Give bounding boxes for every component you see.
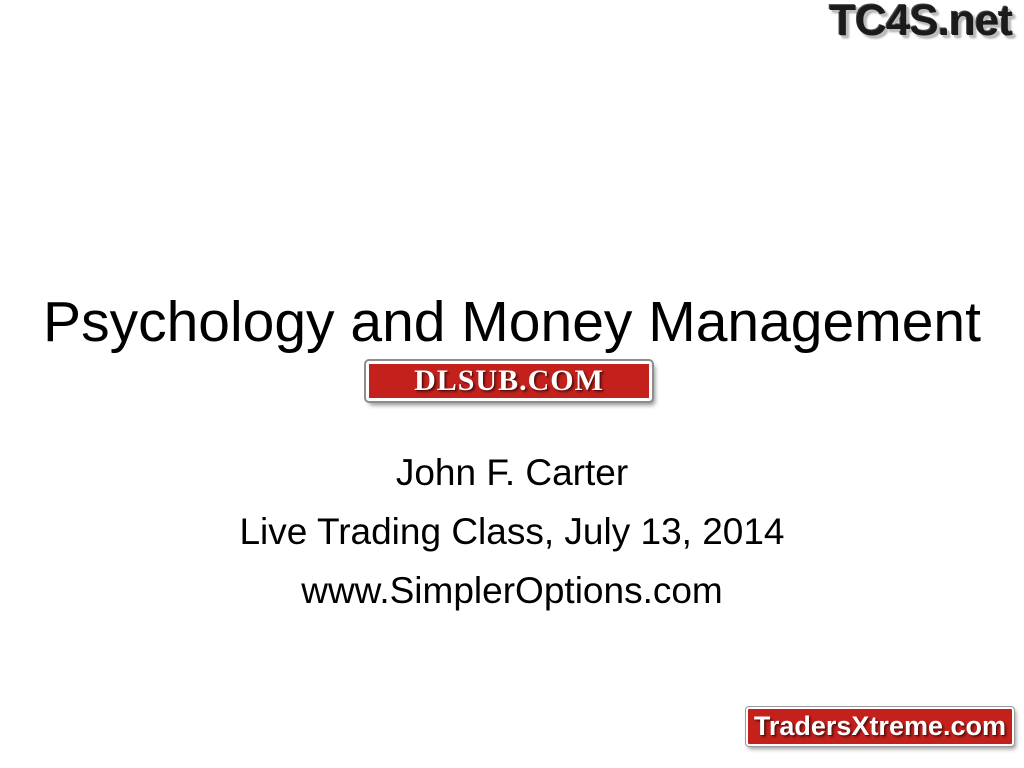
dlsub-watermark: DLSUB.COM <box>366 361 652 401</box>
tc4s-watermark: TC4S.net <box>829 0 1012 46</box>
slide-subtitle: John F. Carter Live Trading Class, July … <box>0 443 1024 621</box>
subtitle-line-presenter: John F. Carter <box>0 443 1024 502</box>
slide-title: Psychology and Money Management <box>0 286 1024 358</box>
subtitle-line-website: www.SimplerOptions.com <box>0 561 1024 620</box>
subtitle-line-class-date: Live Trading Class, July 13, 2014 <box>0 502 1024 561</box>
dlsub-watermark-label: DLSUB.COM <box>366 361 652 401</box>
slide-page: { "slide": { "title": "Psychology and Mo… <box>0 0 1024 768</box>
tradersxtreme-watermark: TradersXtreme.com <box>746 707 1014 746</box>
